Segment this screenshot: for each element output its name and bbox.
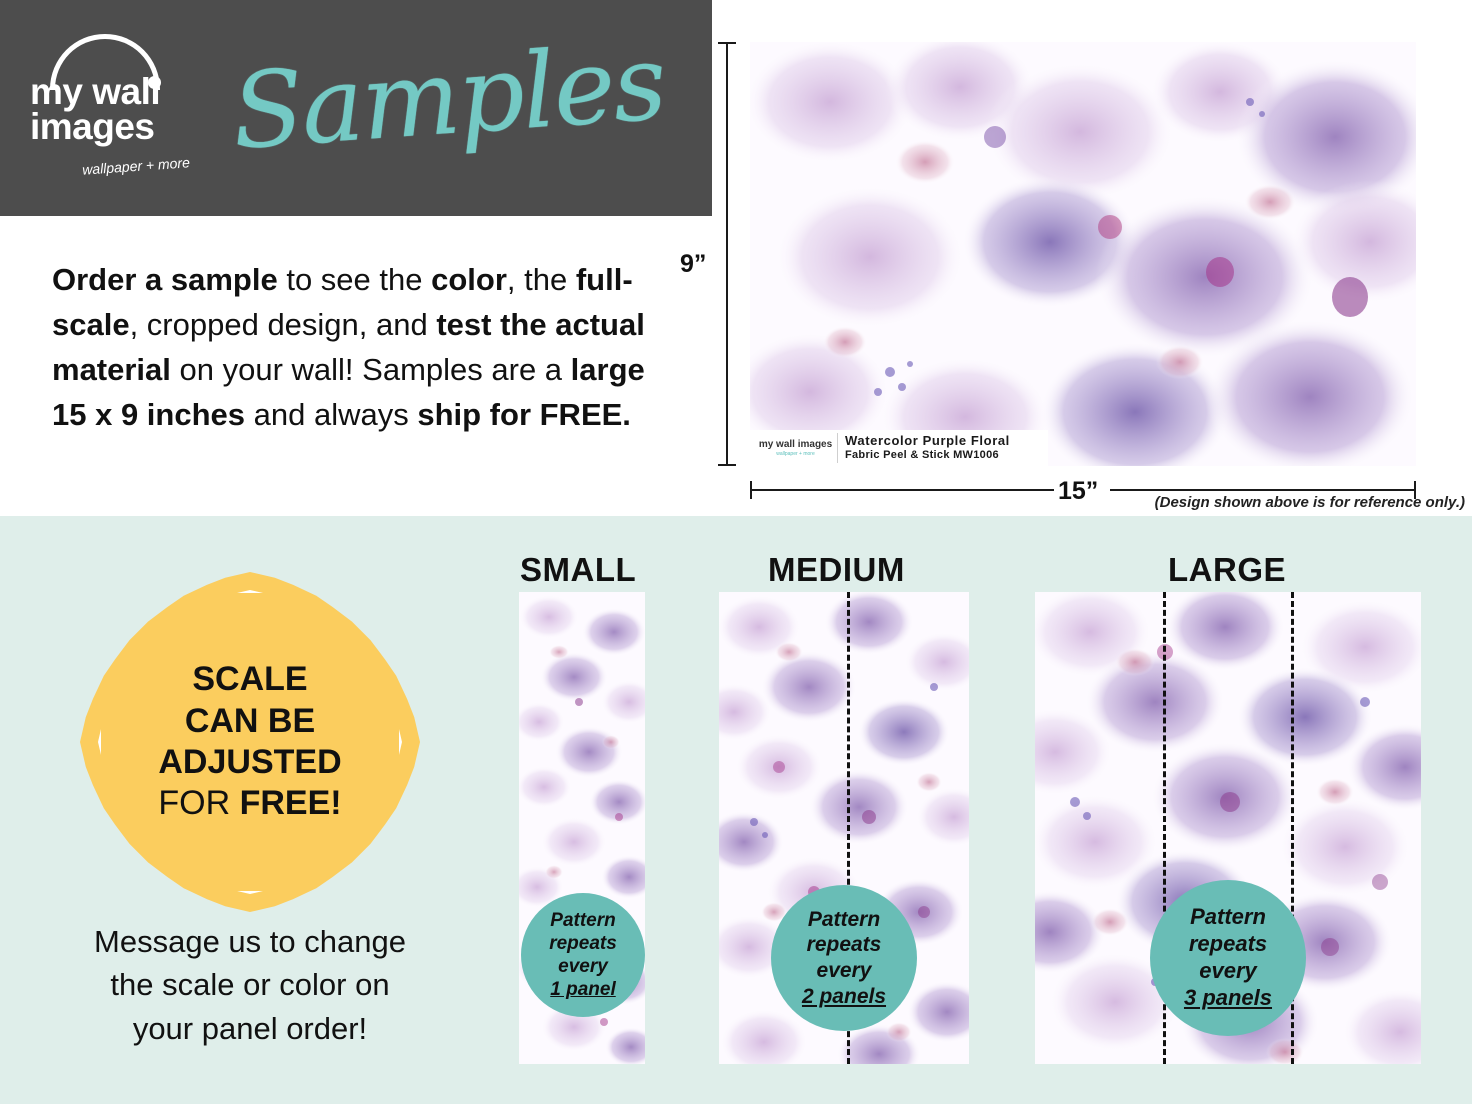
watercolor-floral-svg <box>750 42 1416 466</box>
bubble-large-line4: 3 panels <box>1184 985 1272 1012</box>
brand-name-line1: my wall <box>30 74 220 109</box>
bubble-medium-line3: every <box>817 958 872 984</box>
caption-brand-logo: my wall images wallpaper + more <box>754 433 838 463</box>
width-guide-tick-left <box>750 481 752 499</box>
samples-script-title: Samples <box>228 21 668 173</box>
reference-note: (Design shown above is for reference onl… <box>1115 494 1465 511</box>
bubble-large-line1: Pattern <box>1190 904 1266 931</box>
height-guide-tick-bottom <box>718 464 736 466</box>
message-block: Message us to change the scale or color … <box>40 920 460 1050</box>
bubble-small-line1: Pattern <box>550 909 615 932</box>
height-guide-line <box>726 42 728 466</box>
bubble-medium-line1: Pattern <box>808 907 880 933</box>
starburst-line3: ADJUSTED <box>158 742 341 783</box>
design-name: Watercolor Purple Floral <box>845 434 1010 449</box>
brand-name-line2: images <box>30 109 220 144</box>
bubble-small-line4: 1 panel <box>550 978 615 1001</box>
header-banner: my wall images wallpaper + more Samples <box>0 0 712 216</box>
message-line1: Message us to change <box>40 920 460 963</box>
height-guide-tick-top <box>718 42 736 44</box>
sample-caption-bar: my wall images wallpaper + more Watercol… <box>750 430 1048 466</box>
width-label: 15” <box>1058 477 1098 506</box>
scale-title-small: SMALL <box>520 551 636 589</box>
scale-bubble-small: Pattern repeats every 1 panel <box>521 893 645 1017</box>
sample-preview: my wall images wallpaper + more Watercol… <box>750 42 1416 466</box>
width-guide-line-right <box>1110 489 1416 491</box>
starburst-line1: SCALE <box>192 659 307 700</box>
height-label: 9” <box>680 250 706 279</box>
brand-logo: my wall images wallpaper + more <box>22 34 222 184</box>
scale-title-large: LARGE <box>1168 551 1286 589</box>
design-material-sku: Fabric Peel & Stick MW1006 <box>845 449 1010 462</box>
message-line2: the scale or color on <box>40 963 460 1006</box>
starburst-line4: FOR FREE! <box>158 783 341 824</box>
bubble-small-line2: repeats <box>549 932 617 955</box>
caption-logo-line2: wallpaper + more <box>776 452 815 457</box>
starburst-text: SCALE CAN BE ADJUSTED FOR FREE! <box>80 572 420 912</box>
scale-bubble-large: Pattern repeats every 3 panels <box>1150 880 1306 1036</box>
scale-bubble-medium: Pattern repeats every 2 panels <box>771 885 917 1031</box>
brand-tagline: wallpaper + more <box>56 152 217 179</box>
message-line3: your panel order! <box>40 1007 460 1050</box>
starburst-line2: CAN BE <box>185 701 315 742</box>
bubble-small-line3: every <box>558 955 608 978</box>
scale-starburst-badge: SCALE CAN BE ADJUSTED FOR FREE! <box>80 572 420 912</box>
scale-title-medium: MEDIUM <box>768 551 905 589</box>
bubble-large-line3: every <box>1199 958 1257 985</box>
caption-logo-line1: my wall images <box>759 440 832 450</box>
starburst-line4-plain: FOR <box>158 784 239 822</box>
starburst-line4-bold: FREE! <box>240 784 342 822</box>
bubble-medium-line2: repeats <box>807 932 882 958</box>
sample-floral-artwork <box>750 42 1416 466</box>
bubble-large-line2: repeats <box>1189 931 1267 958</box>
intro-paragraph: Order a sample to see the color, the ful… <box>52 258 682 438</box>
caption-text-block: Watercolor Purple Floral Fabric Peel & S… <box>845 434 1010 462</box>
bubble-medium-line4: 2 panels <box>802 984 886 1010</box>
width-guide-line-left <box>750 489 1054 491</box>
